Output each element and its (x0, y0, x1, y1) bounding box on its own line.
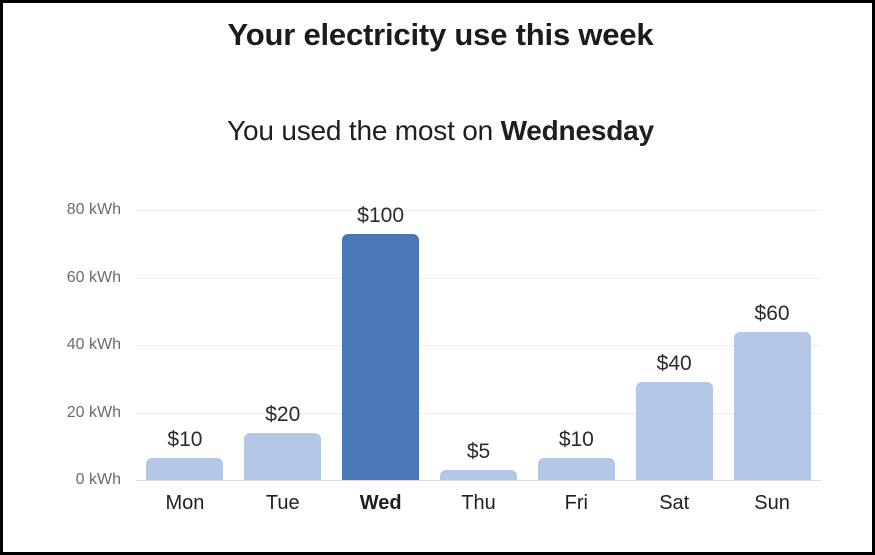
bar-sun[interactable] (734, 332, 811, 481)
y-axis-tick-label: 60 kWh (67, 269, 121, 287)
bar-thu[interactable] (440, 470, 517, 480)
axis-baseline (136, 480, 821, 481)
page-title: Your electricity use this week (3, 17, 875, 53)
bar-slot: $10 (146, 210, 223, 480)
x-axis-label-sun: Sun (714, 492, 831, 515)
bar-wed[interactable] (342, 234, 419, 480)
bar-slot: $100 (342, 210, 419, 480)
bar-sat[interactable] (636, 382, 713, 480)
bar-slot: $20 (244, 210, 321, 480)
bar-chart-plot-area: 0 kWh20 kWh40 kWh60 kWh80 kWh $10$20$100… (136, 210, 821, 480)
bar-value-label: $20 (224, 403, 341, 427)
bar-slot: $60 (734, 210, 811, 480)
y-axis-tick-label: 0 kWh (76, 471, 121, 489)
bar-fri[interactable] (538, 458, 615, 480)
chart-subtitle: You used the most on Wednesday (3, 115, 875, 147)
electricity-usage-card: Your electricity use this week You used … (0, 0, 875, 555)
bar-value-label: $10 (126, 428, 243, 452)
bar-slot: $40 (636, 210, 713, 480)
bar-slot: $5 (440, 210, 517, 480)
bar-mon[interactable] (146, 458, 223, 480)
bar-value-label: $100 (322, 204, 439, 228)
y-axis-tick-label: 20 kWh (67, 404, 121, 422)
bar-value-label: $60 (714, 302, 831, 326)
y-axis-tick-label: 80 kWh (67, 201, 121, 219)
subtitle-prefix: You used the most on (227, 115, 500, 146)
y-axis-tick-label: 40 kWh (67, 336, 121, 354)
bar-slot: $10 (538, 210, 615, 480)
bar-value-label: $10 (518, 428, 635, 452)
bar-tue[interactable] (244, 433, 321, 480)
bar-value-label: $40 (616, 352, 733, 376)
subtitle-emphasis: Wednesday (501, 115, 654, 146)
